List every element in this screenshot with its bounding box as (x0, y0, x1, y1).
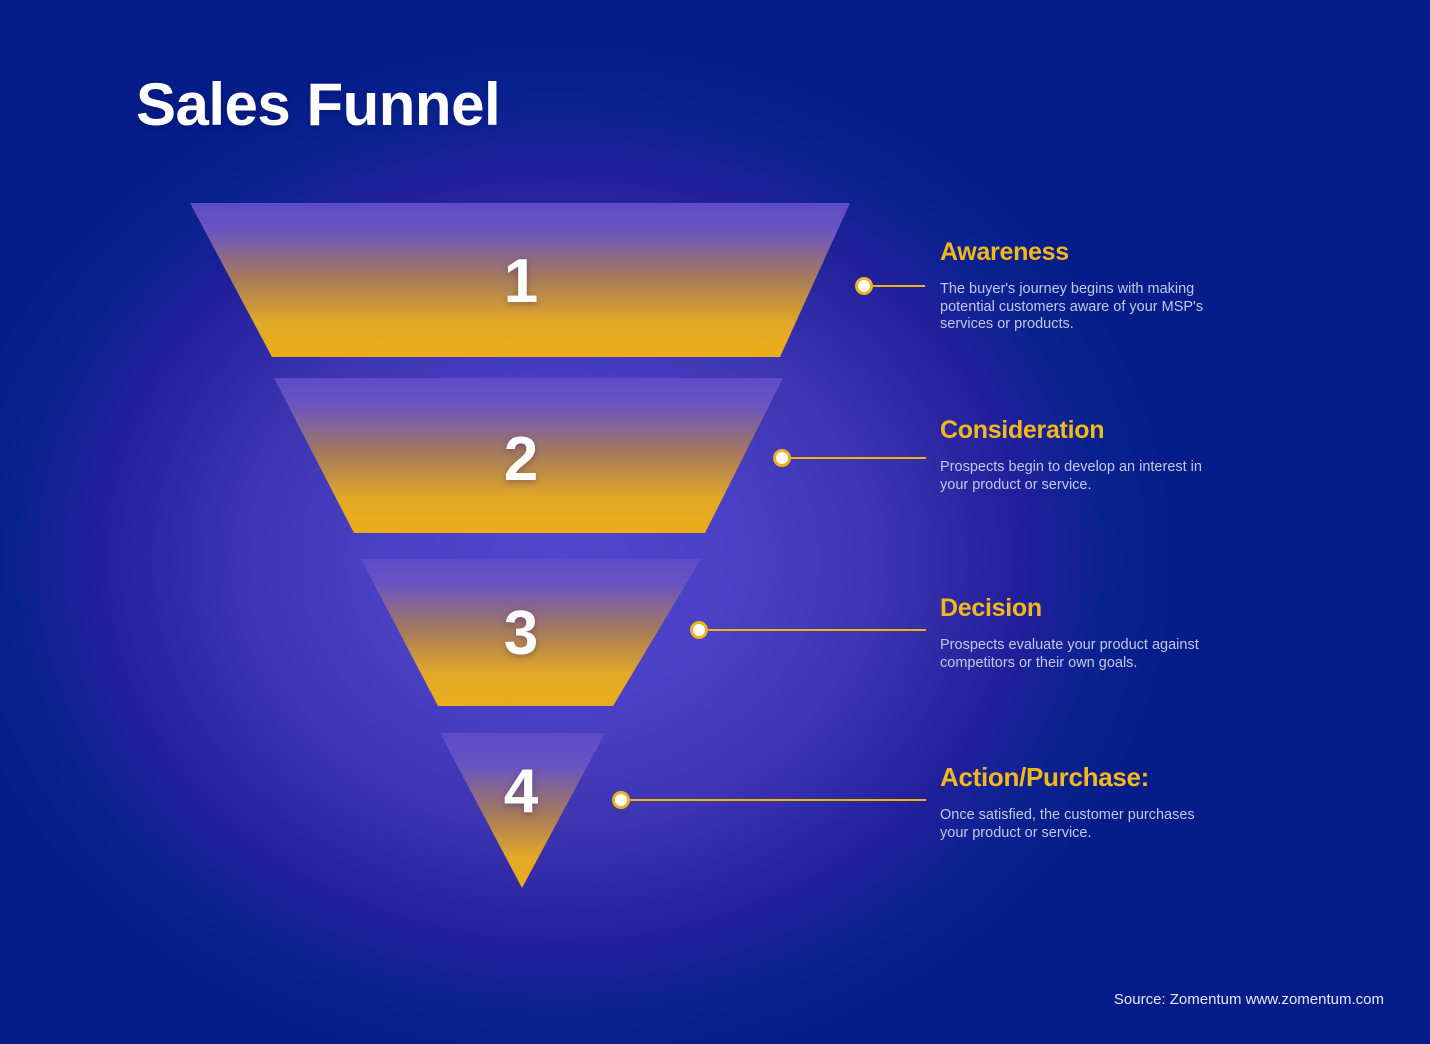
funnel-stage-2-number: 2 (461, 424, 581, 495)
funnel-stage-2-label: Consideration (940, 416, 1220, 445)
infographic-canvas: Sales Funnel (0, 0, 1430, 1044)
connector-stage-2 (773, 449, 926, 467)
funnel-stage-2-text: Consideration Prospects begin to develop… (940, 416, 1220, 494)
connector-line (630, 799, 926, 801)
funnel-graphic (0, 0, 1430, 1044)
connector-line (791, 457, 926, 459)
connector-stage-4 (612, 791, 926, 809)
funnel-stage-1-text: Awareness The buyer's journey begins wit… (940, 238, 1220, 334)
page-title: Sales Funnel (136, 70, 500, 139)
funnel-stage-1-label: Awareness (940, 238, 1220, 267)
connector-dot-icon (690, 621, 708, 639)
funnel-stage-4-description: Once satisfied, the customer purchases y… (940, 807, 1220, 842)
connector-dot-icon (773, 449, 791, 467)
funnel-stage-4-label: Action/Purchase: (940, 762, 1220, 793)
connector-line (708, 629, 926, 631)
funnel-stage-3-number: 3 (461, 598, 581, 669)
funnel-stage-2-description: Prospects begin to develop an interest i… (940, 459, 1220, 494)
funnel-stage-1-number: 1 (461, 246, 581, 317)
connector-stage-1 (855, 277, 925, 295)
connector-dot-icon (612, 791, 630, 809)
funnel-stage-4-text: Action/Purchase: Once satisfied, the cus… (940, 762, 1220, 842)
funnel-stage-1-description: The buyer's journey begins with making p… (940, 281, 1220, 334)
funnel-stage-3-text: Decision Prospects evaluate your product… (940, 594, 1220, 672)
connector-dot-icon (855, 277, 873, 295)
funnel-stage-4-number: 4 (461, 756, 581, 827)
funnel-stage-3-description: Prospects evaluate your product against … (940, 637, 1220, 672)
funnel-stage-3-label: Decision (940, 594, 1220, 623)
source-attribution: Source: Zomentum www.zomentum.com (1114, 991, 1384, 1008)
connector-stage-3 (690, 621, 926, 639)
connector-line (873, 285, 925, 287)
